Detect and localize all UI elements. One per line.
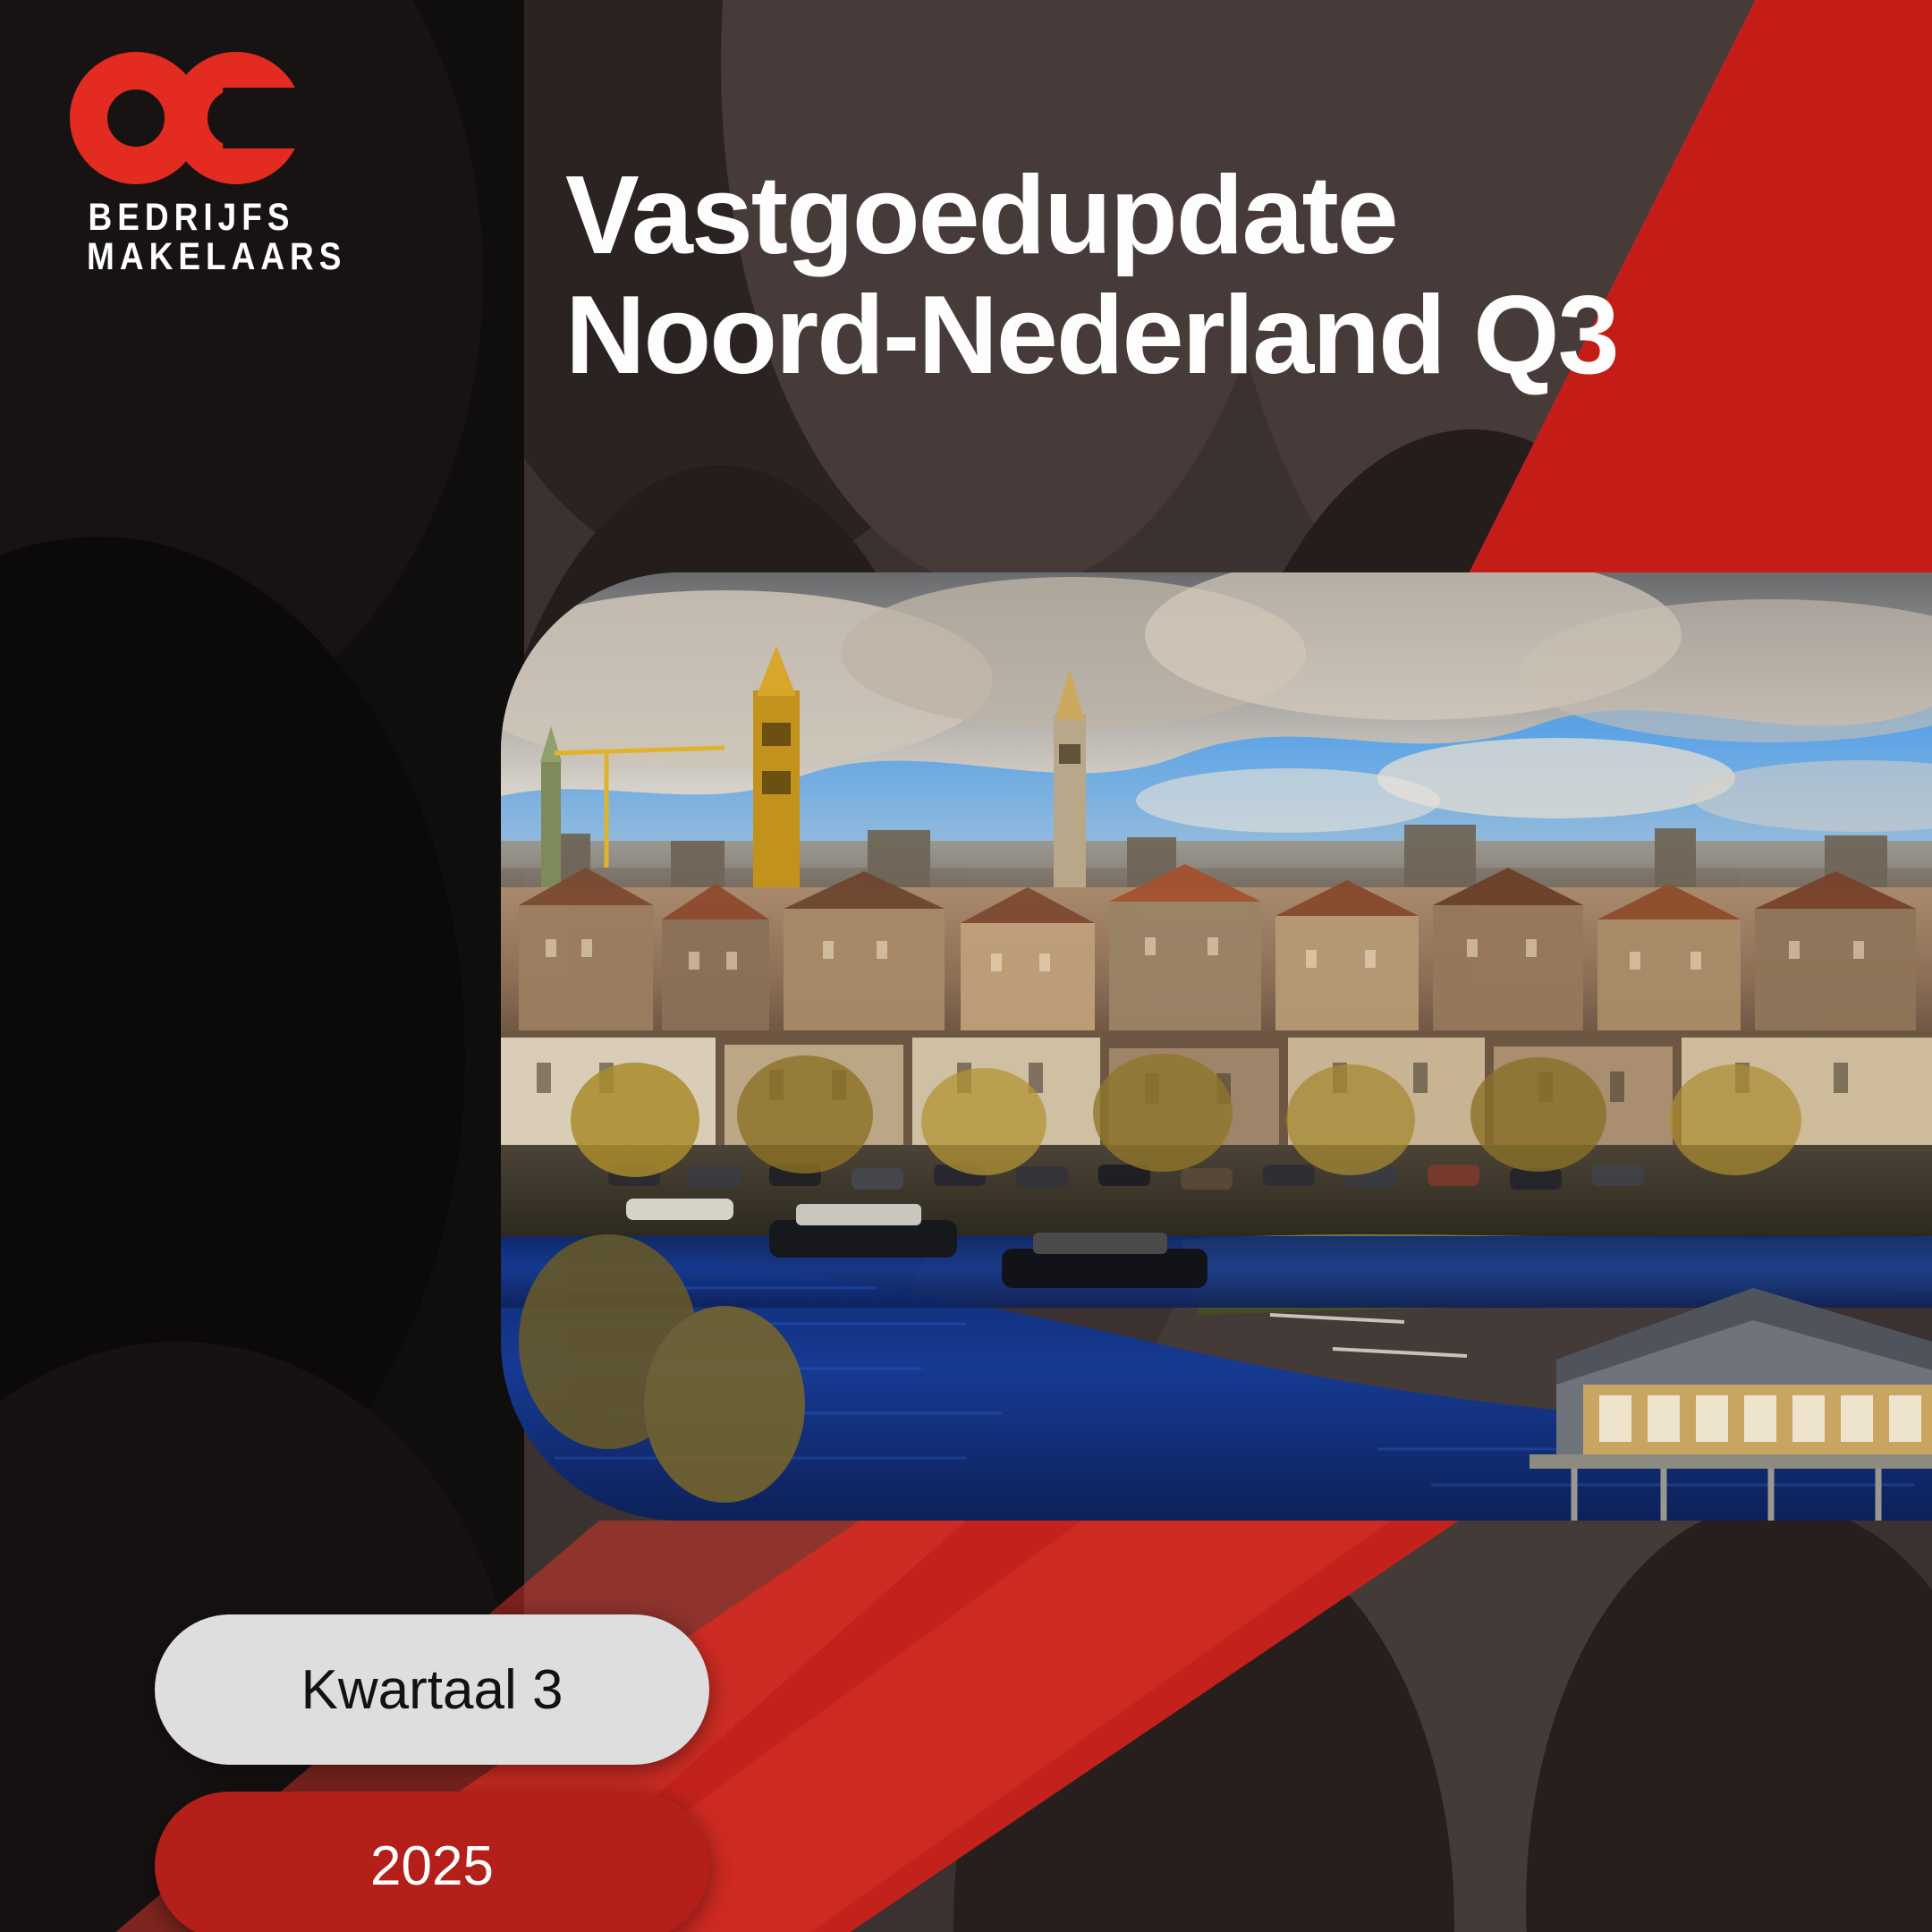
brand-wordmark-line2: MAKELAARS [87,238,296,277]
page-title: Vastgoedupdate Noord-Nederland Q3 [565,157,1835,396]
quarter-badge[interactable]: Kwartaal 3 [155,1614,709,1765]
poster-canvas: BEDRIJFS MAKELAARS Vastgoedupdate Noord-… [0,0,1932,1932]
hero-photo [501,572,1932,1521]
year-badge[interactable]: 2025 [155,1792,709,1932]
oc-logo-mark [70,52,313,184]
page-title-line2: Noord-Nederland Q3 [565,276,1835,396]
quarter-badge-label: Kwartaal 3 [301,1658,563,1722]
brand-wordmark-line1: BEDRIJFS [87,199,296,238]
page-title-line1: Vastgoedupdate [565,157,1835,276]
hero-photo-illustration [501,572,1932,1521]
boat-small [626,1199,733,1220]
brand-wordmark: BEDRIJFS MAKELAARS [87,199,296,277]
logo-letter-c-icon [170,52,302,184]
brand-logo[interactable]: BEDRIJFS MAKELAARS [70,52,320,277]
year-badge-label: 2025 [370,1835,494,1898]
